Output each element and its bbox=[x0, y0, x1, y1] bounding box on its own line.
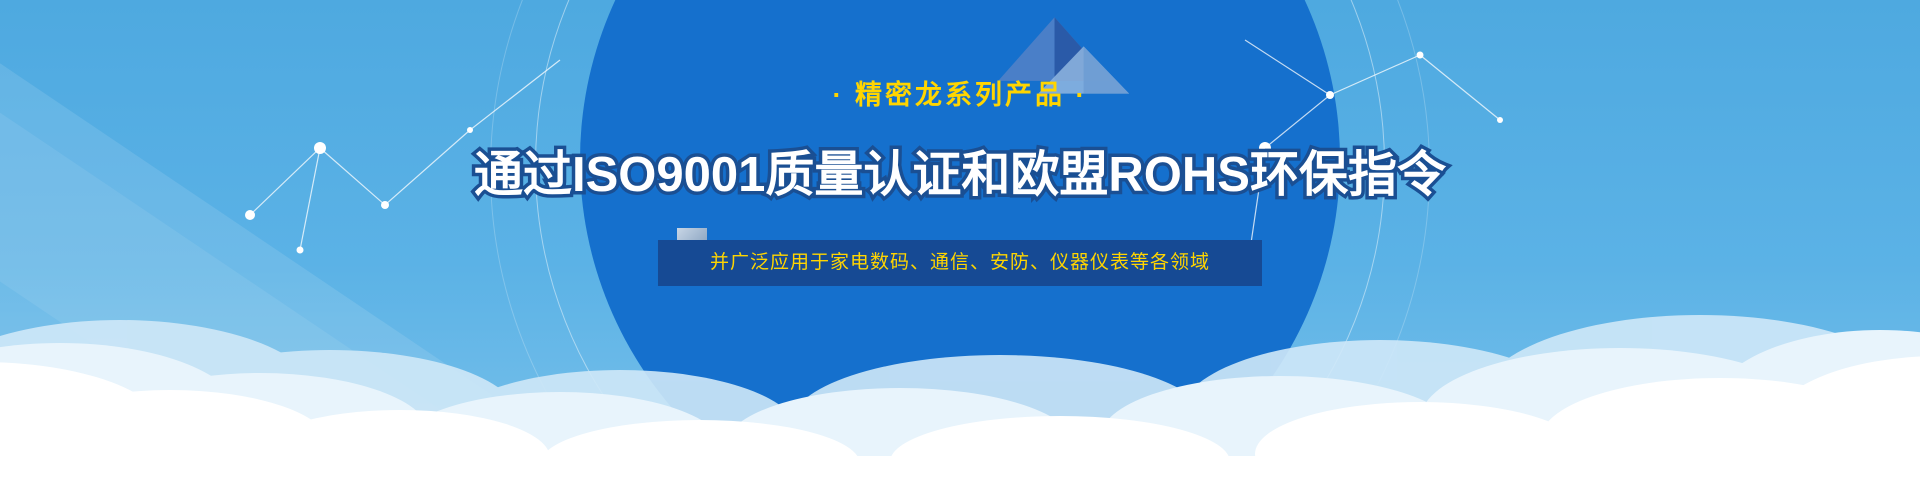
banner-eyebrow: · 精密龙系列产品 · bbox=[0, 78, 1920, 112]
banner-headline: 通过ISO9001质量认证和欧盟ROHS环保指令 bbox=[0, 144, 1920, 206]
promo-banner: · 精密龙系列产品 · 通过ISO9001质量认证和欧盟ROHS环保指令 并广泛… bbox=[0, 0, 1920, 480]
banner-text-block: · 精密龙系列产品 · 通过ISO9001质量认证和欧盟ROHS环保指令 并广泛… bbox=[0, 0, 1920, 480]
banner-subtitle-bar: 并广泛应用于家电数码、通信、安防、仪器仪表等各领域 bbox=[658, 240, 1262, 286]
